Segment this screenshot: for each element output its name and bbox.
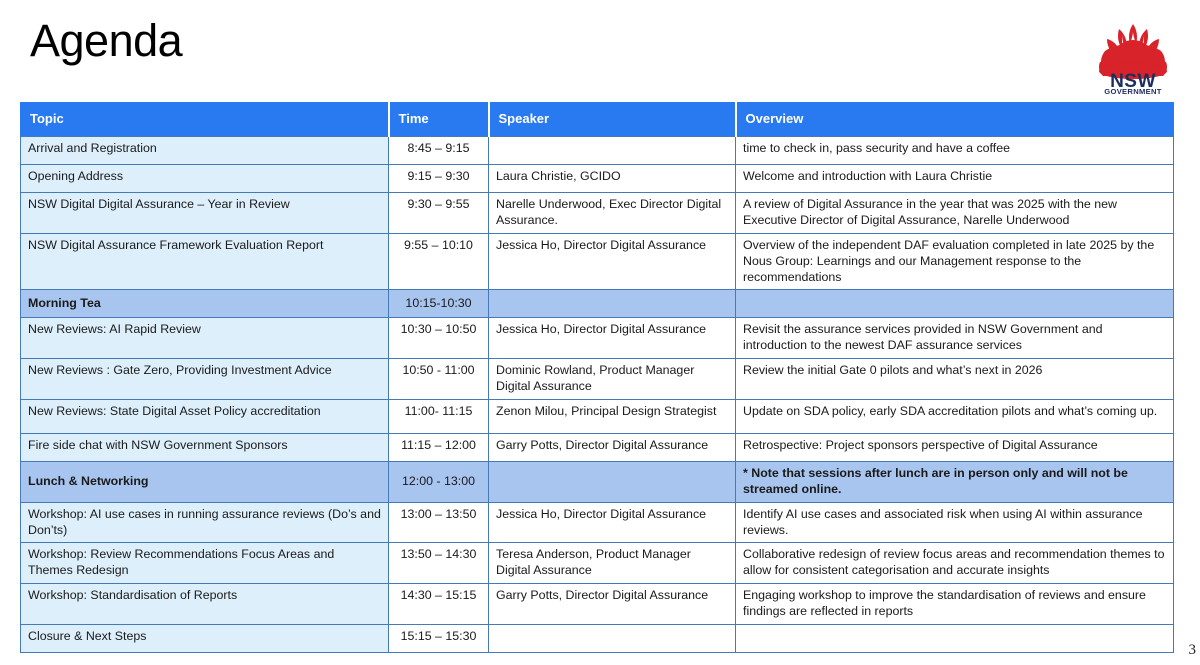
table-row: NSW Digital Digital Assurance – Year in … — [21, 193, 1174, 234]
cell-speaker: Garry Potts, Director Digital Assurance — [489, 584, 736, 625]
cell-speaker: Teresa Anderson, Product Manager Digital… — [489, 543, 736, 584]
cell-speaker: Garry Potts, Director Digital Assurance — [489, 433, 736, 461]
svg-text:GOVERNMENT: GOVERNMENT — [1104, 87, 1161, 94]
agenda-table: Topic Time Speaker Overview Arrival and … — [20, 102, 1174, 653]
table-row: Arrival and Registration8:45 – 9:15time … — [21, 137, 1174, 165]
cell-topic: Arrival and Registration — [21, 137, 389, 165]
column-header-speaker: Speaker — [489, 103, 736, 137]
cell-overview: Update on SDA policy, early SDA accredit… — [736, 399, 1174, 433]
column-header-topic: Topic — [21, 103, 389, 137]
cell-topic: New Reviews: State Digital Asset Policy … — [21, 399, 389, 433]
table-row: Workshop: Standardisation of Reports14:3… — [21, 584, 1174, 625]
cell-overview: time to check in, pass security and have… — [736, 137, 1174, 165]
cell-time: 11:00- 11:15 — [389, 399, 489, 433]
cell-topic: Closure & Next Steps — [21, 624, 389, 652]
table-row: Lunch & Networking12:00 - 13:00* Note th… — [21, 461, 1174, 502]
table-row: Fire side chat with NSW Government Spons… — [21, 433, 1174, 461]
cell-overview: Revisit the assurance services provided … — [736, 318, 1174, 359]
table-header-row: Topic Time Speaker Overview — [21, 103, 1174, 137]
cell-overview: Retrospective: Project sponsors perspect… — [736, 433, 1174, 461]
table-row: New Reviews : Gate Zero, Providing Inves… — [21, 359, 1174, 400]
cell-topic: Fire side chat with NSW Government Spons… — [21, 433, 389, 461]
cell-overview: Welcome and introduction with Laura Chri… — [736, 165, 1174, 193]
cell-topic: New Reviews: AI Rapid Review — [21, 318, 389, 359]
cell-time: 12:00 - 13:00 — [389, 461, 489, 502]
page-number: 3 — [1189, 642, 1197, 659]
cell-overview: Identify AI use cases and associated ris… — [736, 502, 1174, 543]
cell-time: 13:00 – 13:50 — [389, 502, 489, 543]
cell-speaker: Jessica Ho, Director Digital Assurance — [489, 502, 736, 543]
cell-overview — [736, 290, 1174, 318]
table-row: Closure & Next Steps15:15 – 15:30 — [21, 624, 1174, 652]
cell-topic: NSW Digital Digital Assurance – Year in … — [21, 193, 389, 234]
nsw-government-logo: NSW GOVERNMENT — [1088, 18, 1178, 94]
cell-overview: * Note that sessions after lunch are in … — [736, 461, 1174, 502]
cell-time: 10:30 – 10:50 — [389, 318, 489, 359]
cell-topic: Morning Tea — [21, 290, 389, 318]
column-header-overview: Overview — [736, 103, 1174, 137]
agenda-table-container: Topic Time Speaker Overview Arrival and … — [20, 102, 1173, 653]
cell-topic: NSW Digital Assurance Framework Evaluati… — [21, 233, 389, 290]
cell-topic: Workshop: Standardisation of Reports — [21, 584, 389, 625]
cell-speaker: Jessica Ho, Director Digital Assurance — [489, 318, 736, 359]
cell-speaker — [489, 624, 736, 652]
cell-speaker: Laura Christie, GCIDO — [489, 165, 736, 193]
cell-time: 14:30 – 15:15 — [389, 584, 489, 625]
cell-time: 9:15 – 9:30 — [389, 165, 489, 193]
cell-topic: Opening Address — [21, 165, 389, 193]
cell-time: 9:30 – 9:55 — [389, 193, 489, 234]
cell-topic: Workshop: Review Recommendations Focus A… — [21, 543, 389, 584]
cell-speaker — [489, 137, 736, 165]
cell-overview — [736, 624, 1174, 652]
cell-time: 10:15-10:30 — [389, 290, 489, 318]
cell-topic: Lunch & Networking — [21, 461, 389, 502]
cell-topic: Workshop: AI use cases in running assura… — [21, 502, 389, 543]
cell-time: 10:50 - 11:00 — [389, 359, 489, 400]
cell-speaker — [489, 290, 736, 318]
cell-overview: Engaging workshop to improve the standar… — [736, 584, 1174, 625]
table-row: NSW Digital Assurance Framework Evaluati… — [21, 233, 1174, 290]
nsw-waratah-icon: NSW GOVERNMENT — [1088, 18, 1178, 94]
table-row: New Reviews: AI Rapid Review10:30 – 10:5… — [21, 318, 1174, 359]
cell-overview: Overview of the independent DAF evaluati… — [736, 233, 1174, 290]
table-row: Workshop: AI use cases in running assura… — [21, 502, 1174, 543]
cell-topic: New Reviews : Gate Zero, Providing Inves… — [21, 359, 389, 400]
page-title: Agenda — [30, 16, 182, 66]
cell-speaker: Zenon Milou, Principal Design Strategist — [489, 399, 736, 433]
column-header-time: Time — [389, 103, 489, 137]
cell-time: 11:15 – 12:00 — [389, 433, 489, 461]
cell-speaker: Jessica Ho, Director Digital Assurance — [489, 233, 736, 290]
cell-time: 13:50 – 14:30 — [389, 543, 489, 584]
cell-overview: Collaborative redesign of review focus a… — [736, 543, 1174, 584]
cell-overview: A review of Digital Assurance in the yea… — [736, 193, 1174, 234]
table-row: Workshop: Review Recommendations Focus A… — [21, 543, 1174, 584]
cell-time: 9:55 – 10:10 — [389, 233, 489, 290]
cell-time: 8:45 – 9:15 — [389, 137, 489, 165]
cell-overview: Review the initial Gate 0 pilots and wha… — [736, 359, 1174, 400]
cell-speaker: Narelle Underwood, Exec Director Digital… — [489, 193, 736, 234]
cell-time: 15:15 – 15:30 — [389, 624, 489, 652]
table-row: Morning Tea10:15-10:30 — [21, 290, 1174, 318]
cell-speaker — [489, 461, 736, 502]
cell-speaker: Dominic Rowland, Product Manager Digital… — [489, 359, 736, 400]
table-row: Opening Address9:15 – 9:30Laura Christie… — [21, 165, 1174, 193]
table-row: New Reviews: State Digital Asset Policy … — [21, 399, 1174, 433]
